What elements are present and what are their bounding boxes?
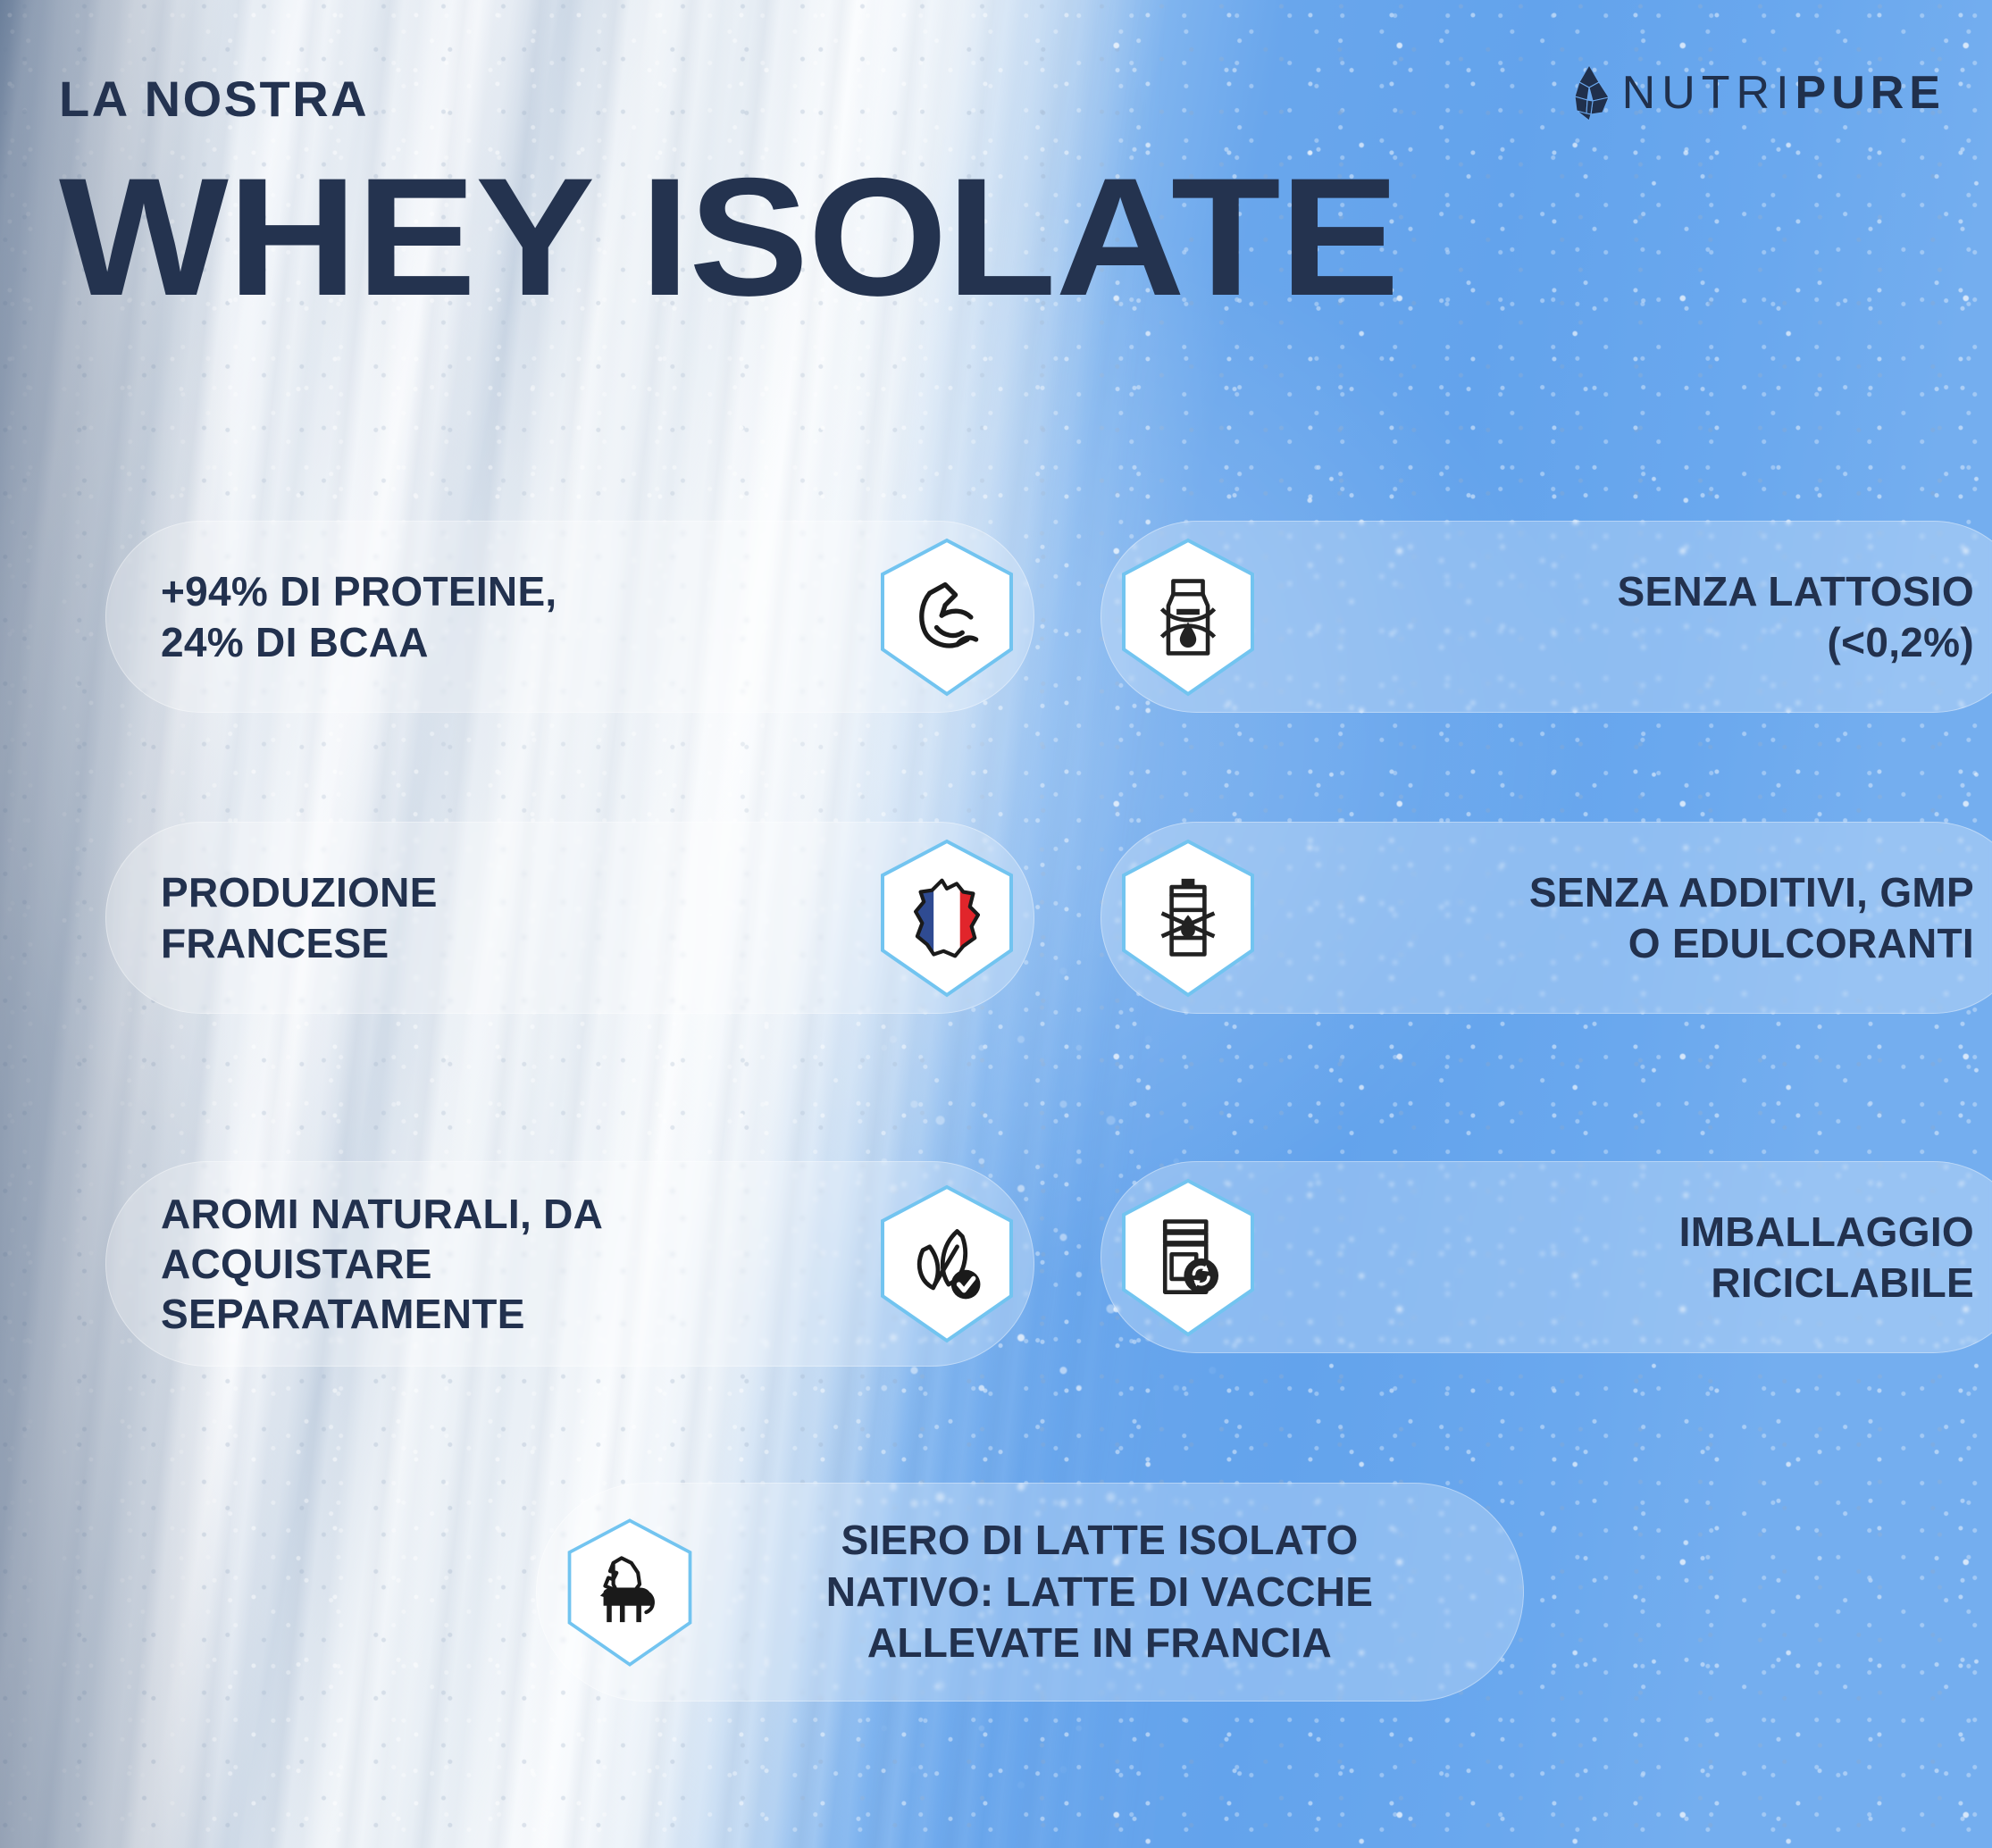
feature-card-protein[interactable]: +94% DI PROTEINE, 24% DI BCAA	[105, 521, 1034, 713]
feature-line: SIERO DI LATTE ISOLATO	[720, 1515, 1479, 1567]
feature-line: ALLEVATE IN FRANCIA	[720, 1618, 1479, 1669]
feature-line: PRODUZIONE	[161, 867, 859, 917]
feature-line: 24% DI BCAA	[161, 617, 859, 667]
france-map-flag-icon	[875, 838, 1018, 999]
feature-line: O EDULCORANTI	[1276, 918, 1974, 968]
infographic-canvas: LA NOSTRA WHEY ISOLATE NUTRIPURE +94% DI…	[0, 0, 1992, 1848]
cow-icon	[563, 1513, 697, 1672]
natural-leaves-check-icon	[875, 1183, 1018, 1344]
feature-line: IMBALLAGGIO	[1276, 1207, 1974, 1257]
badge-france-map	[875, 838, 1018, 999]
feature-line: (<0,2%)	[1276, 617, 1974, 667]
feature-card-recyclable-packaging[interactable]: IMBALLAGGIO RICICLABILE	[1101, 1161, 1992, 1353]
feature-card-french-text: PRODUZIONE FRANCESE	[161, 867, 875, 967]
badge-natural-leaves	[875, 1183, 1018, 1344]
nutripure-leaf-icon	[1569, 64, 1610, 121]
no-additives-container-icon	[1117, 838, 1260, 999]
feature-line: SENZA ADDITIVI, GMP	[1276, 867, 1974, 917]
feature-card-no-additives[interactable]: SENZA ADDITIVI, GMP O EDULCORANTI	[1101, 822, 1992, 1014]
feature-line: ACQUISTARE	[161, 1239, 859, 1289]
feature-card-no-additives-text: SENZA ADDITIVI, GMP O EDULCORANTI	[1260, 867, 1974, 967]
nutripure-logo: NUTRIPURE	[1569, 64, 1946, 121]
kicker-text: LA NOSTRA	[59, 70, 369, 128]
feature-line: RICICLABILE	[1276, 1258, 1974, 1308]
feature-card-aroma-text: AROMI NATURALI, DA ACQUISTARE SEPARATAME…	[161, 1189, 875, 1339]
feature-line: FRANCESE	[161, 918, 859, 968]
flexed-bicep-icon	[875, 537, 1018, 698]
feature-card-protein-text: +94% DI PROTEINE, 24% DI BCAA	[161, 566, 875, 666]
badge-cow	[563, 1513, 697, 1672]
feature-line: +94% DI PROTEINE,	[161, 566, 859, 616]
badge-flexed-bicep	[875, 537, 1018, 698]
feature-card-recyclable-text: IMBALLAGGIO RICICLABILE	[1260, 1207, 1974, 1307]
badge-no-additives	[1117, 838, 1260, 999]
feature-card-french-production[interactable]: PRODUZIONE FRANCESE	[105, 822, 1034, 1014]
badge-recyclable	[1117, 1177, 1260, 1338]
feature-card-lactose-text: SENZA LATTOSIO (<0,2%)	[1260, 566, 1974, 666]
recyclable-package-icon	[1117, 1177, 1260, 1338]
logo-word-pure: PURE	[1795, 67, 1946, 119]
badge-no-lactose	[1117, 537, 1260, 698]
feature-line: SEPARATAMENTE	[161, 1289, 859, 1339]
feature-line: SENZA LATTOSIO	[1276, 566, 1974, 616]
feature-card-native-text: SIERO DI LATTE ISOLATO NATIVO: LATTE DI …	[697, 1515, 1488, 1670]
logo-word-nutri: NUTRI	[1622, 67, 1795, 119]
feature-line: AROMI NATURALI, DA	[161, 1189, 859, 1239]
no-lactose-milk-carton-icon	[1117, 537, 1260, 698]
page-title: WHEY ISOLATE	[59, 156, 1399, 317]
nutripure-wordmark: NUTRIPURE	[1622, 70, 1946, 116]
feature-card-natural-aromas[interactable]: AROMI NATURALI, DA ACQUISTARE SEPARATAME…	[105, 1161, 1034, 1367]
feature-card-lactose[interactable]: SENZA LATTOSIO (<0,2%)	[1101, 521, 1992, 713]
feature-line: NATIVO: LATTE DI VACCHE	[720, 1567, 1479, 1618]
feature-card-native-whey[interactable]: SIERO DI LATTE ISOLATO NATIVO: LATTE DI …	[536, 1483, 1524, 1702]
